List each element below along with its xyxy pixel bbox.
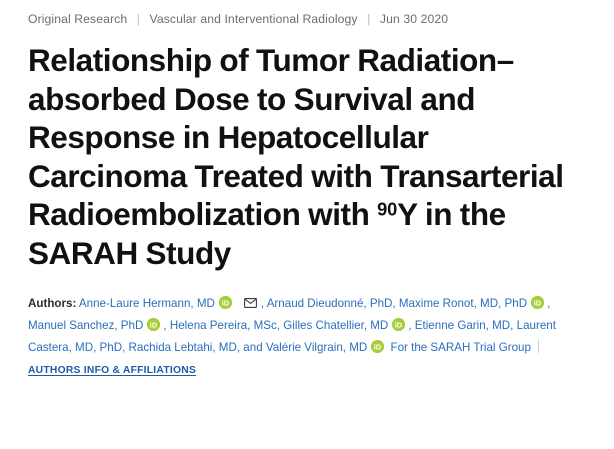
svg-text:iD: iD: [222, 298, 230, 307]
authors-label: Authors:: [28, 297, 76, 310]
author-link[interactable]: Maxime Ronot, MD, PhD: [399, 297, 527, 310]
svg-text:iD: iD: [395, 320, 403, 329]
breadcrumb-separator: |: [361, 12, 376, 26]
envelope-icon[interactable]: [244, 298, 257, 308]
authors-list: Anne-Laure Hermann, MDiD, Arnaud Dieudon…: [28, 297, 556, 354]
title-line-1: Relationship of Tumor Radiation–: [28, 42, 514, 78]
breadcrumb-item-article-type[interactable]: Original Research: [28, 12, 127, 26]
author-link[interactable]: Arnaud Dieudonné, PhD: [267, 297, 393, 310]
breadcrumb-item-date: Jun 30 2020: [380, 12, 448, 26]
article-header-page: Original Research | Vascular and Interve…: [0, 0, 614, 449]
title-line-6-prefix: with: [308, 196, 377, 232]
breadcrumb-item-section[interactable]: Vascular and Interventional Radiology: [150, 12, 358, 26]
author-separator: ,: [408, 319, 411, 332]
orcid-icon[interactable]: iD: [147, 318, 160, 331]
authors-divider: [538, 340, 539, 353]
author-separator: ,: [277, 319, 280, 332]
author-link[interactable]: Gilles Chatellier, MD: [283, 319, 388, 332]
orcid-icon[interactable]: iD: [531, 296, 544, 309]
orcid-icon[interactable]: iD: [371, 340, 384, 353]
author-separator: ,: [510, 319, 513, 332]
title-line-3: Response in Hepatocellular: [28, 119, 428, 155]
author-separator: ,: [547, 297, 550, 310]
svg-text:iD: iD: [374, 342, 382, 351]
author-separator: ,: [261, 297, 264, 310]
author-link[interactable]: and Valérie Vilgrain, MD: [243, 341, 367, 354]
author-link[interactable]: Rachida Lebtahi, MD: [129, 341, 237, 354]
author-separator: ,: [392, 297, 395, 310]
svg-text:iD: iD: [534, 298, 542, 307]
author-separator: ,: [122, 341, 125, 354]
title-isotope-superscript: 90: [377, 199, 397, 220]
authors-block: Authors: Anne-Laure Hermann, MDiD, Arnau…: [28, 293, 586, 382]
author-separator: ,: [237, 341, 240, 354]
author-link[interactable]: Anne-Laure Hermann, MD: [79, 297, 215, 310]
author-group-label: For the SARAH Trial Group: [390, 341, 530, 354]
svg-text:iD: iD: [150, 320, 158, 329]
breadcrumb-separator: |: [131, 12, 146, 26]
page-title: Relationship of Tumor Radiation– absorbe…: [28, 41, 586, 272]
author-separator: ,: [163, 319, 166, 332]
author-link[interactable]: Etienne Garin, MD: [415, 319, 510, 332]
orcid-icon[interactable]: iD: [392, 318, 405, 331]
title-line-2: absorbed Dose to Survival and: [28, 81, 475, 117]
authors-info-affiliations-link[interactable]: AUTHORS INFO & AFFILIATIONS: [28, 365, 196, 376]
breadcrumb: Original Research | Vascular and Interve…: [28, 0, 586, 27]
title-line-4: Carcinoma Treated with: [28, 158, 372, 194]
author-link[interactable]: Helena Pereira, MSc: [170, 319, 277, 332]
orcid-icon[interactable]: iD: [219, 296, 232, 309]
author-link[interactable]: Manuel Sanchez, PhD: [28, 319, 143, 332]
title-isotope-symbol: Y: [397, 196, 417, 232]
